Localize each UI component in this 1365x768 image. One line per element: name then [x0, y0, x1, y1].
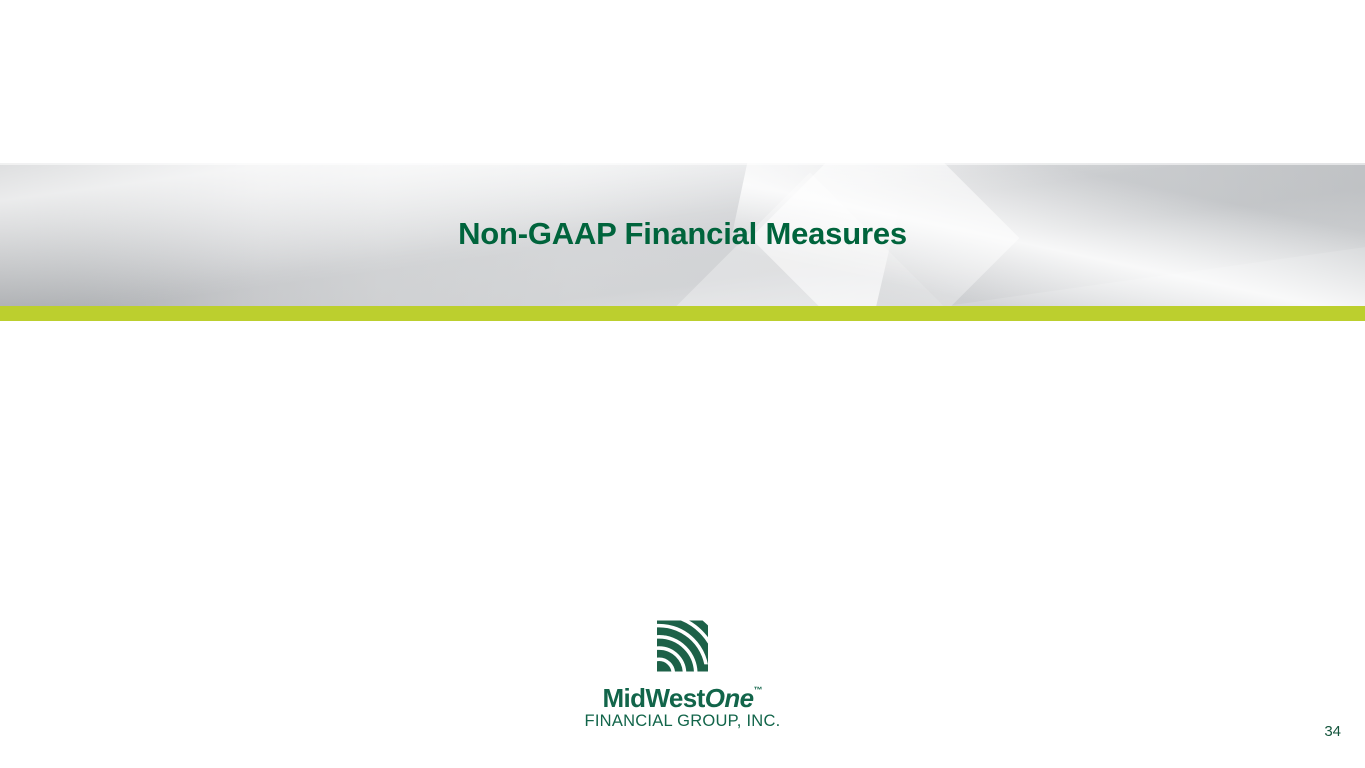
logo-word-primary: MidWest [603, 683, 705, 713]
midwestone-arcs-mark-icon [657, 620, 708, 672]
logo-word-secondary: One [705, 683, 754, 713]
page-number: 34 [1324, 723, 1341, 740]
logo-wordmark: MidWestOne™ [603, 685, 763, 711]
accent-bar [0, 306, 1365, 321]
company-logo: MidWestOne™ FINANCIAL GROUP, INC. [0, 620, 1365, 730]
logo-tagline: FINANCIAL GROUP, INC. [585, 713, 781, 730]
trademark-symbol: ™ [753, 685, 762, 695]
title-banner: Non-GAAP Financial Measures [0, 163, 1365, 306]
slide-canvas: Non-GAAP Financial Measures [0, 0, 1365, 768]
slide-title: Non-GAAP Financial Measures [0, 163, 1365, 306]
